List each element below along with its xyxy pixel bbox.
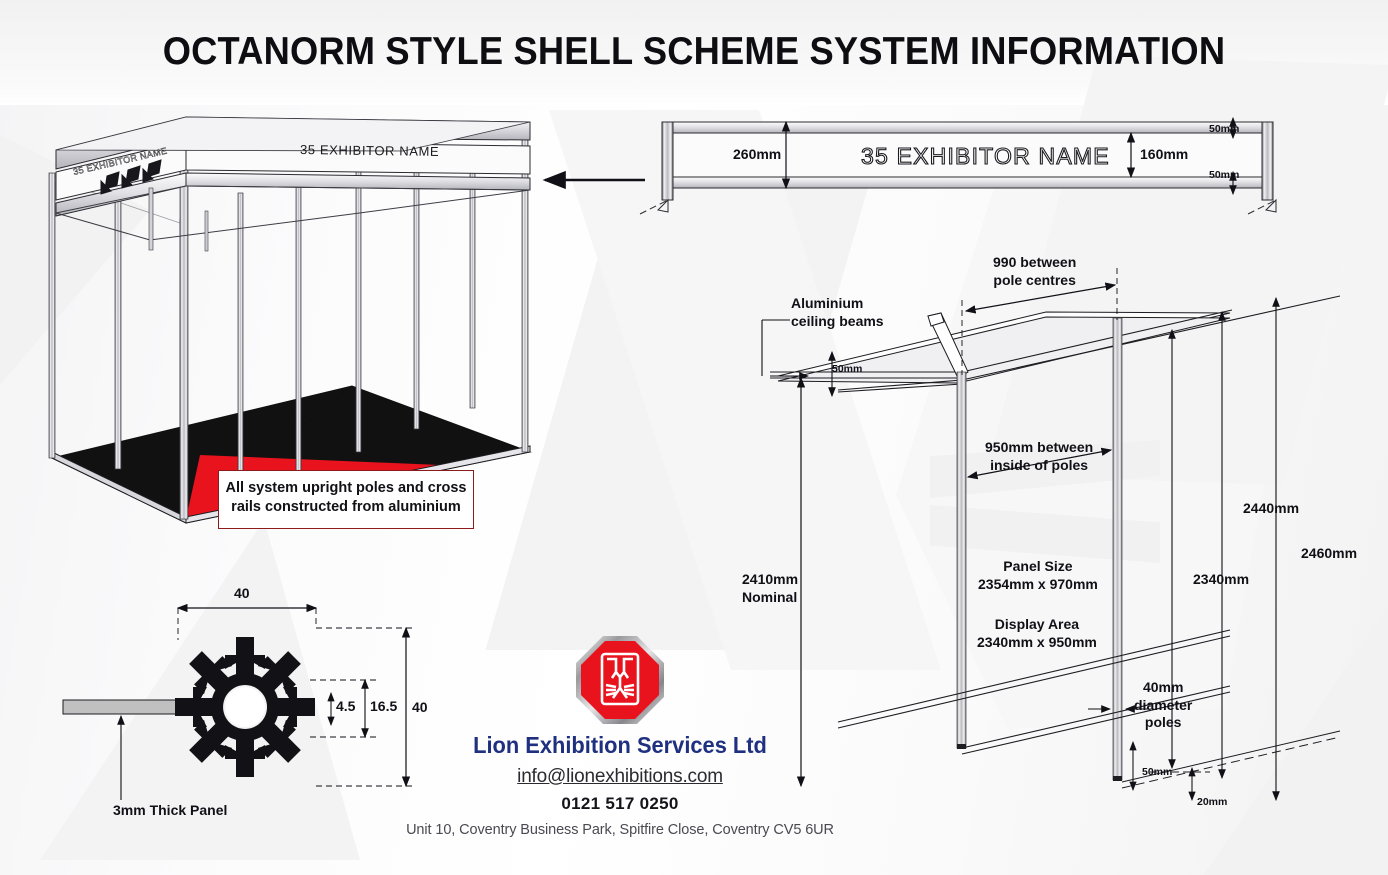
label-panel-size: Panel Size 2354mm x 970mm <box>978 558 1098 593</box>
label-40mm-diameter-poles: 40mm diameter poles <box>1134 679 1192 732</box>
label-3mm-thick-panel: 3mm Thick Panel <box>113 802 227 818</box>
fascia-elevation-banner-text: 35 EXHIBITOR NAME <box>861 143 1110 170</box>
label-display-area: Display Area 2340mm x 950mm <box>977 616 1097 651</box>
dim-label-2460mm: 2460mm <box>1301 545 1357 561</box>
label-2410mm-nominal: 2410mm Nominal <box>742 571 798 606</box>
aluminium-construction-note: All system upright poles and cross rails… <box>218 470 474 529</box>
dim-label-beam-50mm: 50mm <box>832 363 862 375</box>
dim-extrusion-width-40 <box>178 608 412 640</box>
dim-label-base-50mm: 50mm <box>1142 766 1172 778</box>
upright-pole-1 <box>957 372 966 748</box>
dim-label-50mm-bottom: 50mm <box>1209 169 1239 181</box>
lion-shield-logo <box>572 632 668 728</box>
upright-pole-2 <box>1113 318 1122 780</box>
extrusion-cross-section-drawing <box>63 608 412 800</box>
dim-label-160mm: 160mm <box>1140 146 1188 162</box>
postal-address: Unit 10, Coventry Business Park, Spitfir… <box>390 822 850 838</box>
dim-label-slot-4-5: 4.5 <box>336 698 355 714</box>
label-990-pole-centres: 990 between pole centres <box>993 254 1076 289</box>
label-ceiling-beams: Aluminium ceiling beams <box>791 295 884 330</box>
lion-logo-icon <box>572 632 668 728</box>
dim-label-base-20mm: 20mm <box>1197 796 1227 808</box>
booth-fascia-front-text: 35 EXHIBITOR NAME <box>300 142 439 159</box>
dim-label-50mm-top: 50mm <box>1209 123 1239 135</box>
dim-label-260mm: 260mm <box>733 146 781 162</box>
label-950-inside-poles: 950mm between inside of poles <box>985 439 1093 474</box>
booth-isometric-drawing: 35 EXHIBITOR NAME <box>49 117 530 523</box>
dim-label-extrusion-width-40: 40 <box>234 585 250 601</box>
email-link[interactable]: info@lionexhibitions.com <box>390 766 850 788</box>
branding-block: Lion Exhibition Services Ltd info@lionex… <box>390 632 850 838</box>
dim-label-2440mm: 2440mm <box>1243 500 1299 516</box>
company-name: Lion Exhibition Services Ltd <box>402 732 839 759</box>
note-text: All system upright poles and cross rails… <box>226 480 467 515</box>
shell-scheme-info-sheet: OCTANORM STYLE SHELL SCHEME SYSTEM INFOR… <box>0 0 1388 875</box>
phone-number: 0121 517 0250 <box>390 794 850 814</box>
dim-label-2340mm: 2340mm <box>1193 571 1249 587</box>
